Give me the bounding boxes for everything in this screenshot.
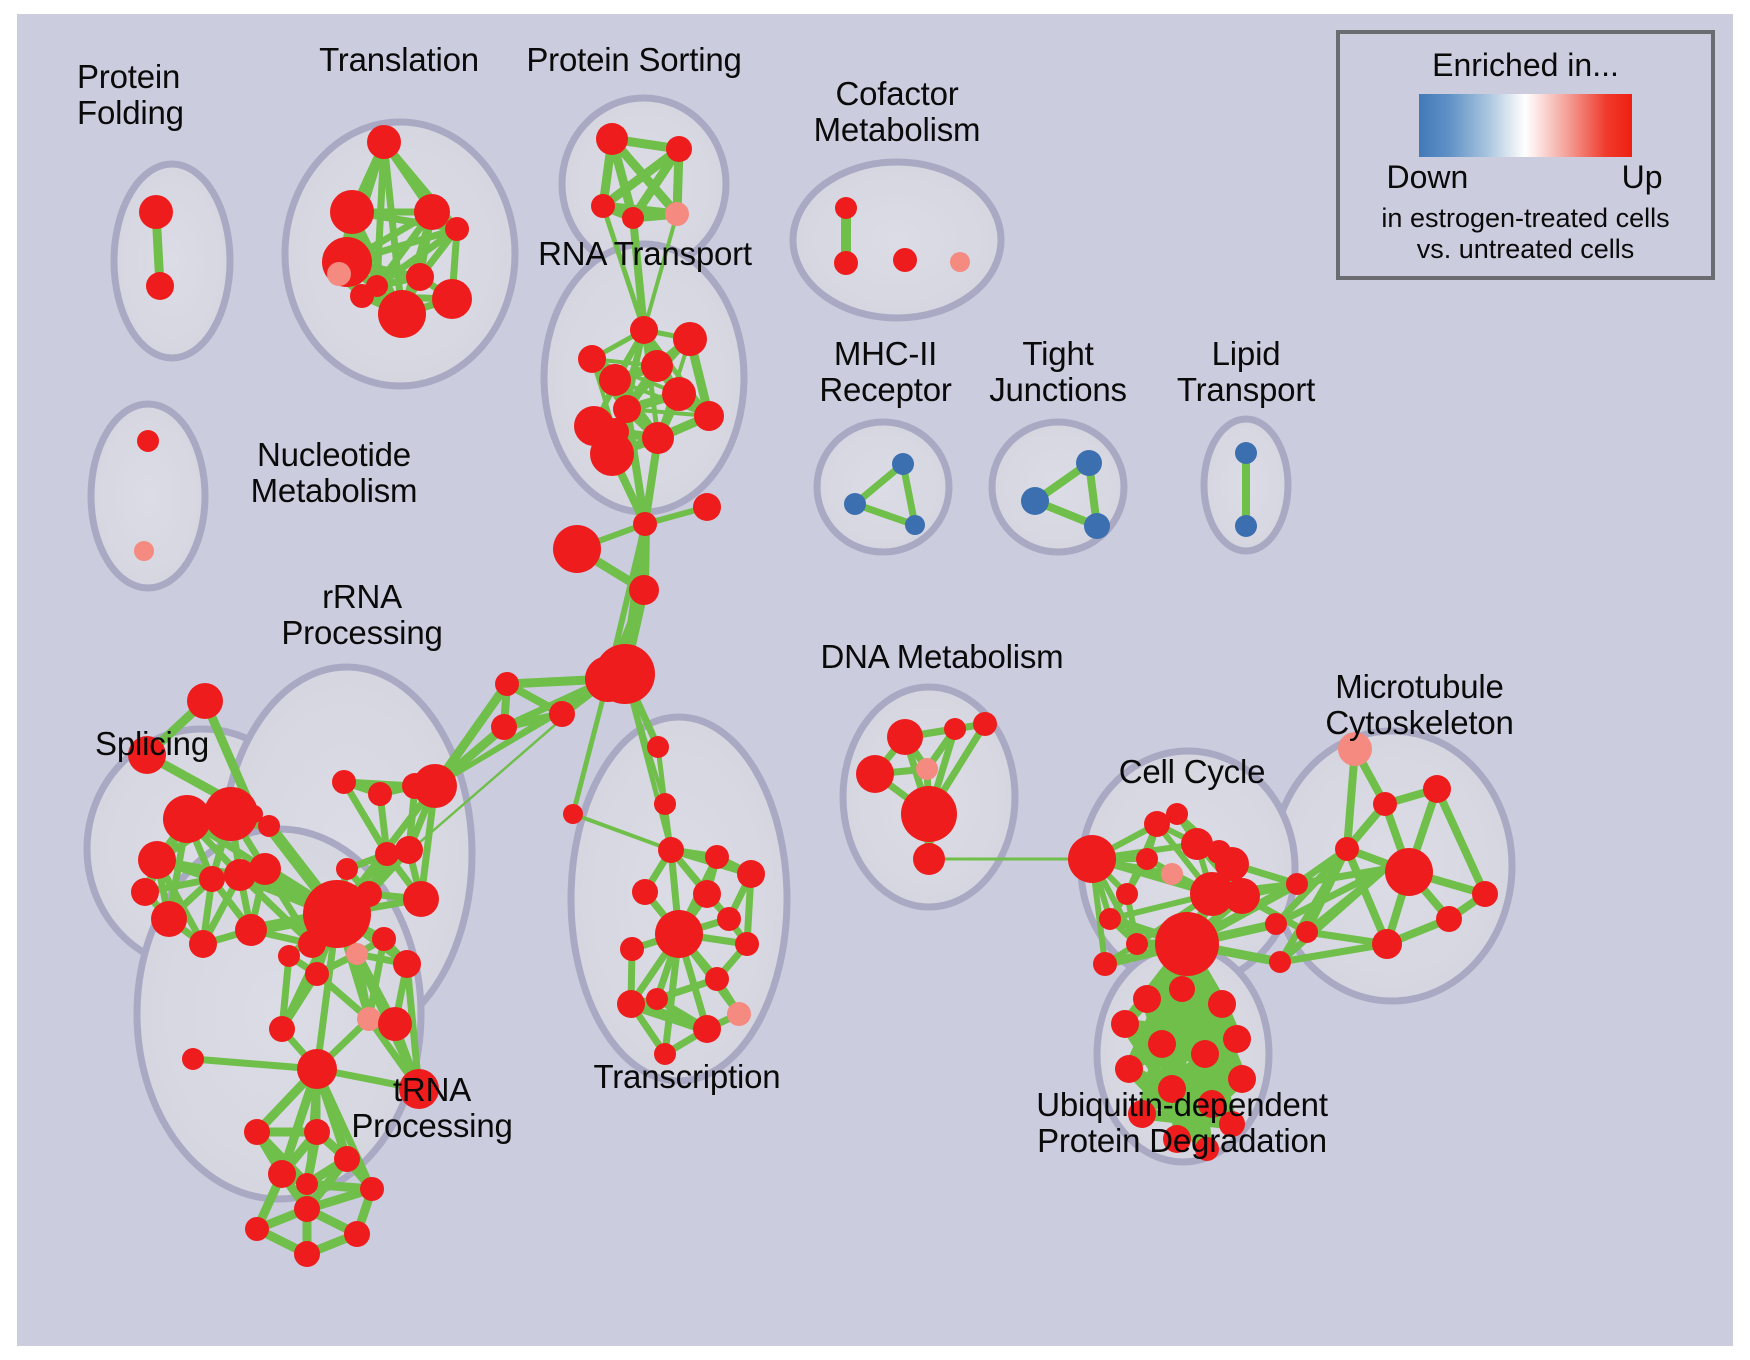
node [350,284,374,308]
cluster-label-protein-sorting: Protein Sorting [499,42,769,78]
node [395,836,423,864]
node [887,719,923,755]
node [356,881,382,907]
node [445,217,469,241]
cluster-label-trna-processing: tRNA Processing [307,1072,557,1144]
node [1148,1030,1176,1058]
node [590,432,634,476]
node [654,793,676,815]
node [916,758,938,780]
node [296,1173,318,1195]
node [235,914,267,946]
node [393,950,421,978]
legend-title: Enriched in... [1340,47,1711,84]
cluster-label-splicing: Splicing [62,726,242,762]
node [244,1119,270,1145]
node [182,1048,204,1070]
cluster-label-rrna-processing: rRNA Processing [247,579,477,651]
node [491,714,517,740]
node [278,945,300,967]
node [665,202,689,226]
node [372,927,396,951]
node [1224,878,1260,914]
node [1099,908,1121,930]
node [737,860,765,888]
node [1372,929,1402,959]
node [332,770,356,794]
node [1208,990,1236,1018]
node [336,858,358,880]
node [187,683,223,719]
node [378,290,426,338]
node [892,453,914,475]
hull-protein-folding [114,164,230,358]
node [944,718,966,740]
node [950,252,970,272]
node [727,1002,751,1026]
node [646,988,668,1010]
node [905,515,925,535]
cluster-label-microtubule-cytoskeleton: Microtubule Cytoskeleton [1282,669,1557,741]
node [1084,513,1110,539]
node [1115,1055,1143,1083]
node [585,656,631,702]
node [629,575,659,605]
cluster-label-protein-folding: Protein Folding [77,59,277,131]
node [378,1007,412,1041]
node [633,512,657,536]
node [693,493,721,521]
node [367,125,401,159]
node [294,1196,320,1222]
node [893,248,917,272]
node [1235,515,1257,537]
node [578,345,606,373]
cluster-label-cell-cycle: Cell Cycle [1092,754,1292,790]
cluster-label-dna-metabolism: DNA Metabolism [797,639,1087,675]
node [641,350,673,382]
node [596,123,628,155]
node [146,272,174,300]
node [913,843,945,875]
node [1385,848,1433,896]
node [137,430,159,452]
node [647,736,669,758]
node [1076,450,1102,476]
node [1335,837,1359,861]
node [694,401,724,431]
node [666,136,692,162]
cluster-label-translation: Translation [289,42,509,78]
node [693,880,721,908]
cluster-label-transcription: Transcription [562,1059,812,1095]
node [432,279,472,319]
node [620,937,644,961]
node [1093,952,1117,976]
node [553,525,601,573]
node [346,943,368,965]
hull-cofactor-metabolism [793,162,1001,318]
node [549,701,575,727]
node [269,1016,295,1042]
node [334,1146,360,1172]
node [1126,933,1148,955]
node [375,842,399,866]
node [655,910,703,958]
network-canvas: Protein Folding Translation Protein Sort… [17,14,1733,1346]
legend-caption: in estrogen-treated cells vs. untreated … [1340,203,1711,265]
node [1169,976,1195,1002]
node [403,881,439,917]
node [360,1177,384,1201]
node [662,377,696,411]
node [189,930,217,958]
node [673,322,707,356]
legend-high-label: Up [1622,159,1663,196]
node [330,190,374,234]
node [245,1217,269,1241]
node [632,879,658,905]
cluster-label-tight-junctions: Tight Junctions [958,336,1158,408]
node [134,541,154,561]
node [591,194,615,218]
node [294,1241,320,1267]
node [835,197,857,219]
node [834,251,858,275]
node [1111,1010,1139,1038]
node [151,901,187,937]
cluster-label-nucleotide-metabolism: Nucleotide Metabolism [199,437,469,509]
legend-panel: Enriched in... Down Up in estrogen-treat… [1336,30,1715,280]
node [344,1221,370,1247]
legend-color-gradient-bar [1419,94,1632,157]
node [1296,921,1318,943]
node [495,672,519,696]
cluster-label-rna-transport: RNA Transport [505,236,785,272]
node [413,764,457,808]
node [357,1007,381,1031]
cluster-label-lipid-transport: Lipid Transport [1146,336,1346,408]
node [1155,912,1219,976]
node [368,782,392,806]
node [1436,906,1462,932]
node [131,878,159,906]
node [844,493,866,515]
figure-root: Protein Folding Translation Protein Sort… [0,0,1750,1360]
node [194,813,212,831]
node [705,845,729,869]
node [249,853,281,885]
cluster-label-ubiquitin-protein-degradation: Ubiquitin-dependent Protein Degradation [977,1087,1387,1159]
node [139,195,173,229]
node [1235,442,1257,464]
node [204,787,258,841]
node [1161,863,1183,885]
node [258,815,280,837]
node [138,841,176,879]
node [1286,873,1308,895]
node [642,422,674,454]
node [622,207,644,229]
node [1068,835,1116,883]
node [1021,487,1049,515]
node [973,712,997,736]
node [199,866,225,892]
node [1191,1040,1219,1068]
node [327,262,351,286]
legend-low-label: Down [1387,159,1469,196]
node [1423,775,1451,803]
node [599,364,631,396]
node [1133,985,1161,1013]
node [617,990,645,1018]
node [563,804,583,824]
node [1136,848,1158,870]
legend-endpoint-labels: Down Up [1381,159,1671,199]
cluster-label-cofactor-metabolism: Cofactor Metabolism [782,76,1012,148]
node [693,1015,721,1043]
node [414,194,450,230]
node [717,907,741,931]
node [1269,951,1291,973]
node [705,967,729,991]
node [406,263,434,291]
node [268,1160,296,1188]
node [305,962,329,986]
node [1166,803,1188,825]
node [1223,1025,1251,1053]
node [630,316,658,344]
node [1116,883,1138,905]
node [901,786,957,842]
node [856,755,894,793]
node [1373,792,1397,816]
node [1265,913,1287,935]
node [735,932,759,956]
node [658,837,684,863]
hull-mhc-ii-receptor [817,422,949,552]
node [1472,881,1498,907]
